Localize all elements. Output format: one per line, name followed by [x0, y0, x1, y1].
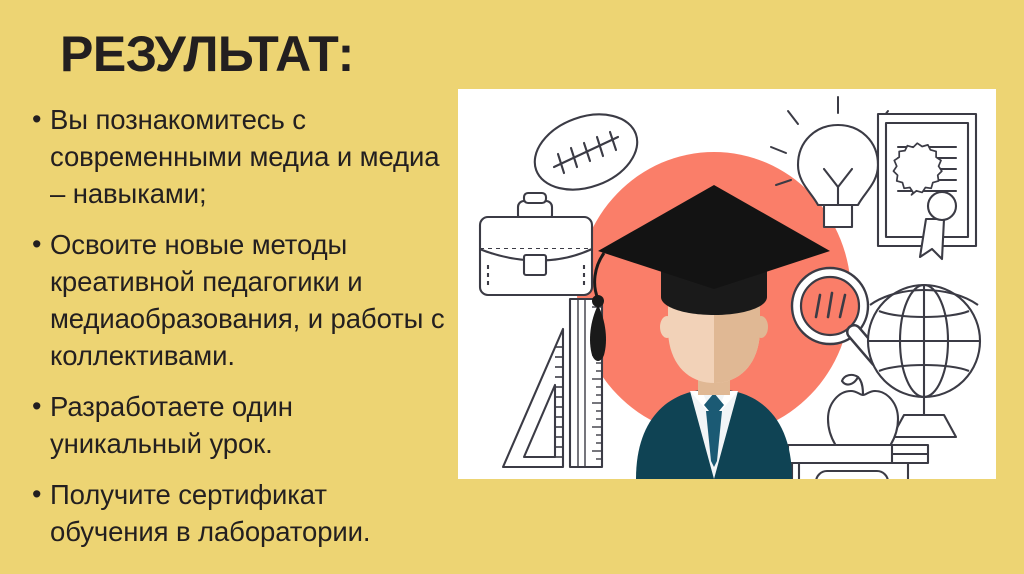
list-item-text: Освоите новые методы креативной педагоги… — [50, 226, 452, 374]
list-item: • Освоите новые методы креативной педаго… — [32, 226, 452, 374]
bullet-list: • Вы познакомитесь с современными медиа … — [32, 101, 452, 564]
illustration-panel — [458, 89, 996, 479]
list-item-text: Разработаете один уникальный урок. — [50, 388, 452, 462]
list-item-text: Получите сертификат обучения в лаборатор… — [50, 476, 452, 550]
list-item: • Получите сертификат обучения в лаборат… — [32, 476, 452, 550]
page-title: РЕЗУЛЬТАТ: — [60, 28, 460, 81]
list-item: • Разработаете один уникальный урок. — [32, 388, 452, 462]
bullet-marker-icon: • — [32, 476, 50, 513]
bullet-marker-icon: • — [32, 101, 50, 138]
bullet-marker-icon: • — [32, 388, 50, 425]
list-item: • Вы познакомитесь с современными медиа … — [32, 101, 452, 212]
certificate-icon — [878, 114, 976, 259]
bullet-marker-icon: • — [32, 226, 50, 263]
slide-root: РЕЗУЛЬТАТ: • Вы познакомитесь с современ… — [0, 0, 1024, 574]
list-item-text: Вы познакомитесь с современными медиа и … — [50, 101, 452, 212]
books-icon — [776, 445, 928, 479]
